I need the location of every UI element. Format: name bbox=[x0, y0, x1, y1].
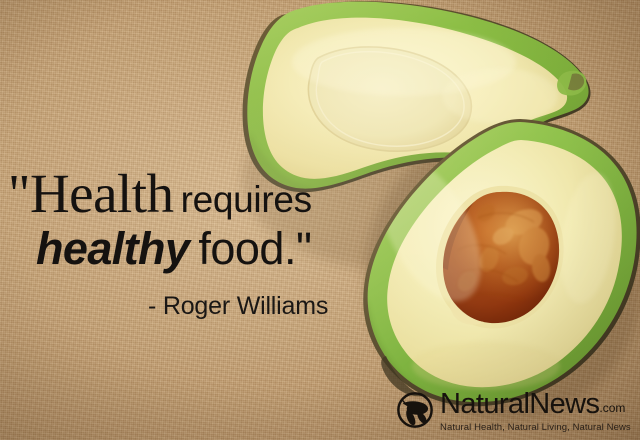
logo-word-natural: Natural bbox=[440, 388, 529, 420]
globe-icon bbox=[396, 391, 434, 429]
quote-attribution: - Roger Williams bbox=[8, 292, 398, 321]
logo-wordmark: NaturalNews.com bbox=[440, 390, 631, 419]
quote-word-healthy: healthy bbox=[36, 223, 189, 274]
logo-text: NaturalNews.com Natural Health, Natural … bbox=[440, 390, 631, 433]
logo-tagline: Natural Health, Natural Living, Natural … bbox=[440, 422, 631, 433]
quote-line-1: "Healthrequires bbox=[8, 166, 398, 220]
quote-line-2: healthyfood." bbox=[8, 226, 398, 278]
quote-word-food: food." bbox=[198, 223, 311, 274]
quote-graphic-canvas: "Healthrequires healthyfood." - Roger Wi… bbox=[0, 0, 640, 440]
quote-block: "Healthrequires healthyfood." - Roger Wi… bbox=[8, 166, 398, 321]
quote-word-health: "Health bbox=[8, 163, 174, 224]
logo-word-news: News bbox=[529, 388, 599, 420]
naturalnews-logo[interactable]: NaturalNews.com Natural Health, Natural … bbox=[396, 390, 631, 433]
logo-word-dotcom: .com bbox=[599, 401, 625, 415]
quote-word-requires: requires bbox=[181, 179, 312, 220]
